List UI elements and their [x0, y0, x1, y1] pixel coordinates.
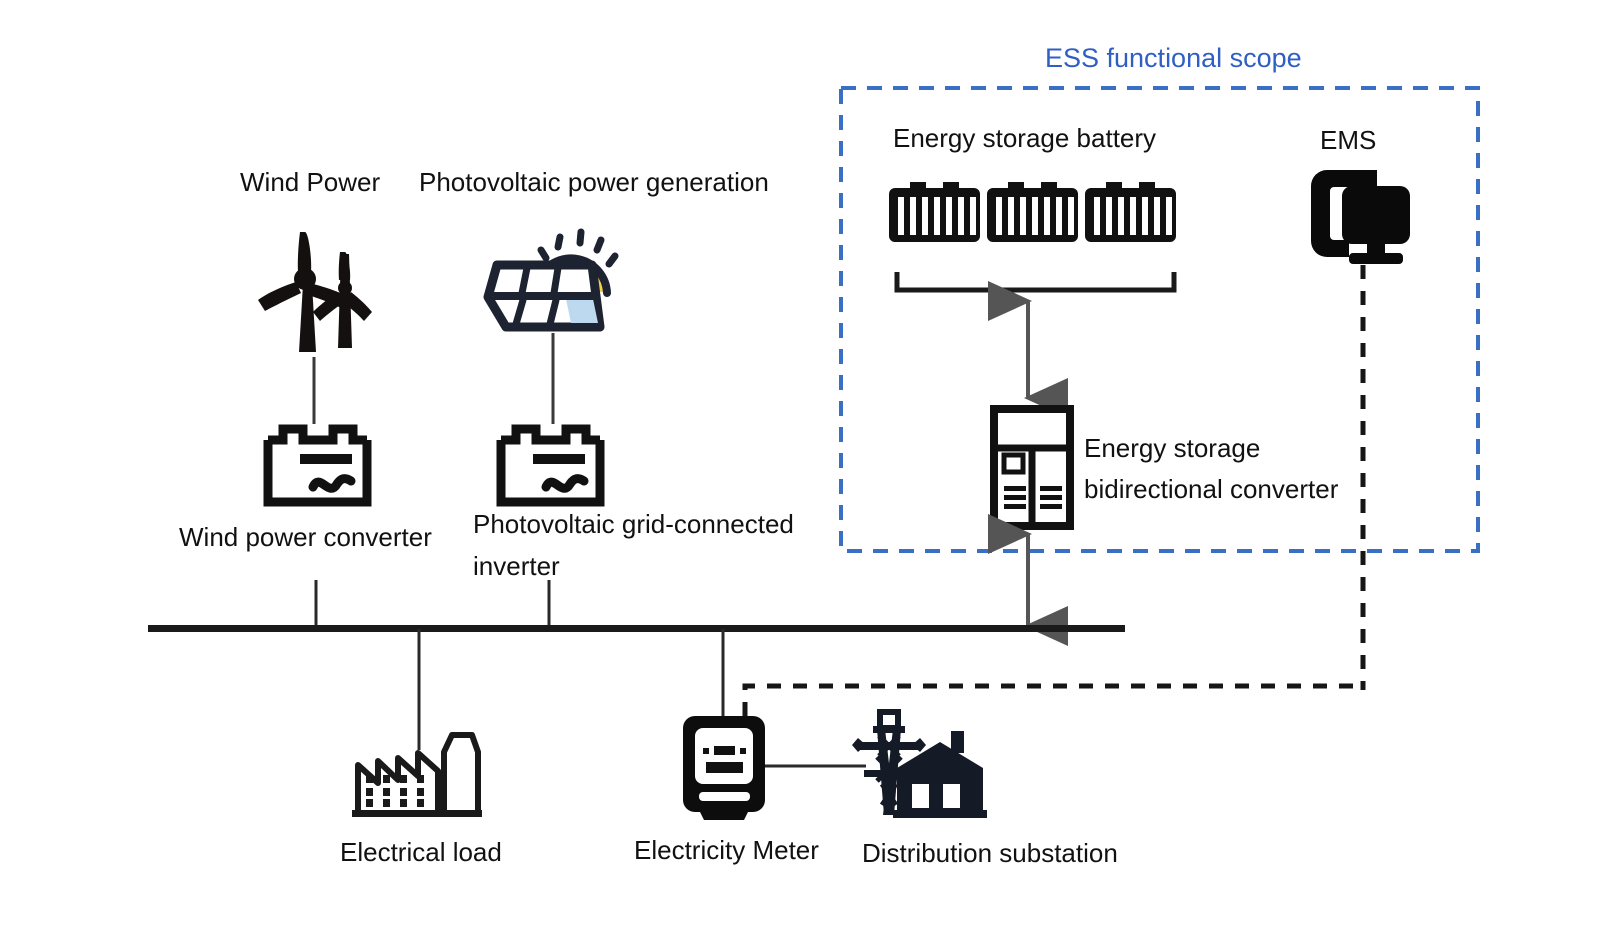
battery-label: Energy storage battery — [893, 122, 1156, 155]
diagram-canvas: ESS functional scope Energy storage batt… — [0, 0, 1599, 926]
converter-label-line2: bidirectional converter — [1084, 473, 1338, 506]
main-ac-bus — [148, 625, 1125, 632]
wind-converter-label: Wind power converter — [179, 521, 432, 554]
factory-icon — [352, 735, 482, 817]
computer-icon — [1311, 170, 1410, 264]
electricity-meter-label: Electricity Meter — [634, 834, 819, 867]
electrical-load-label: Electrical load — [340, 836, 502, 869]
electricity-meter-icon — [683, 716, 765, 820]
ess-scope-title: ESS functional scope — [1045, 41, 1302, 76]
wind-turbine-icon — [258, 232, 372, 352]
inverter-icon — [501, 429, 600, 502]
wind-power-title: Wind Power — [240, 166, 380, 199]
converter-label-line1: Energy storage — [1084, 432, 1260, 465]
pv-inverter-label-line2: inverter — [473, 550, 560, 583]
pv-power-title: Photovoltaic power generation — [419, 166, 769, 199]
cabinet-icon — [994, 409, 1070, 526]
solar-panel-icon — [488, 232, 615, 327]
pv-inverter-label-line1: Photovoltaic grid-connected — [473, 508, 794, 541]
converter-icon — [268, 429, 367, 502]
transmission-tower-house-icon — [852, 712, 987, 818]
battery-bus-bracket — [897, 272, 1174, 290]
distribution-substation-label: Distribution substation — [862, 837, 1118, 870]
ems-label: EMS — [1320, 124, 1376, 157]
battery-icon — [889, 182, 1176, 242]
meter-ems-comm-line — [745, 686, 1363, 716]
